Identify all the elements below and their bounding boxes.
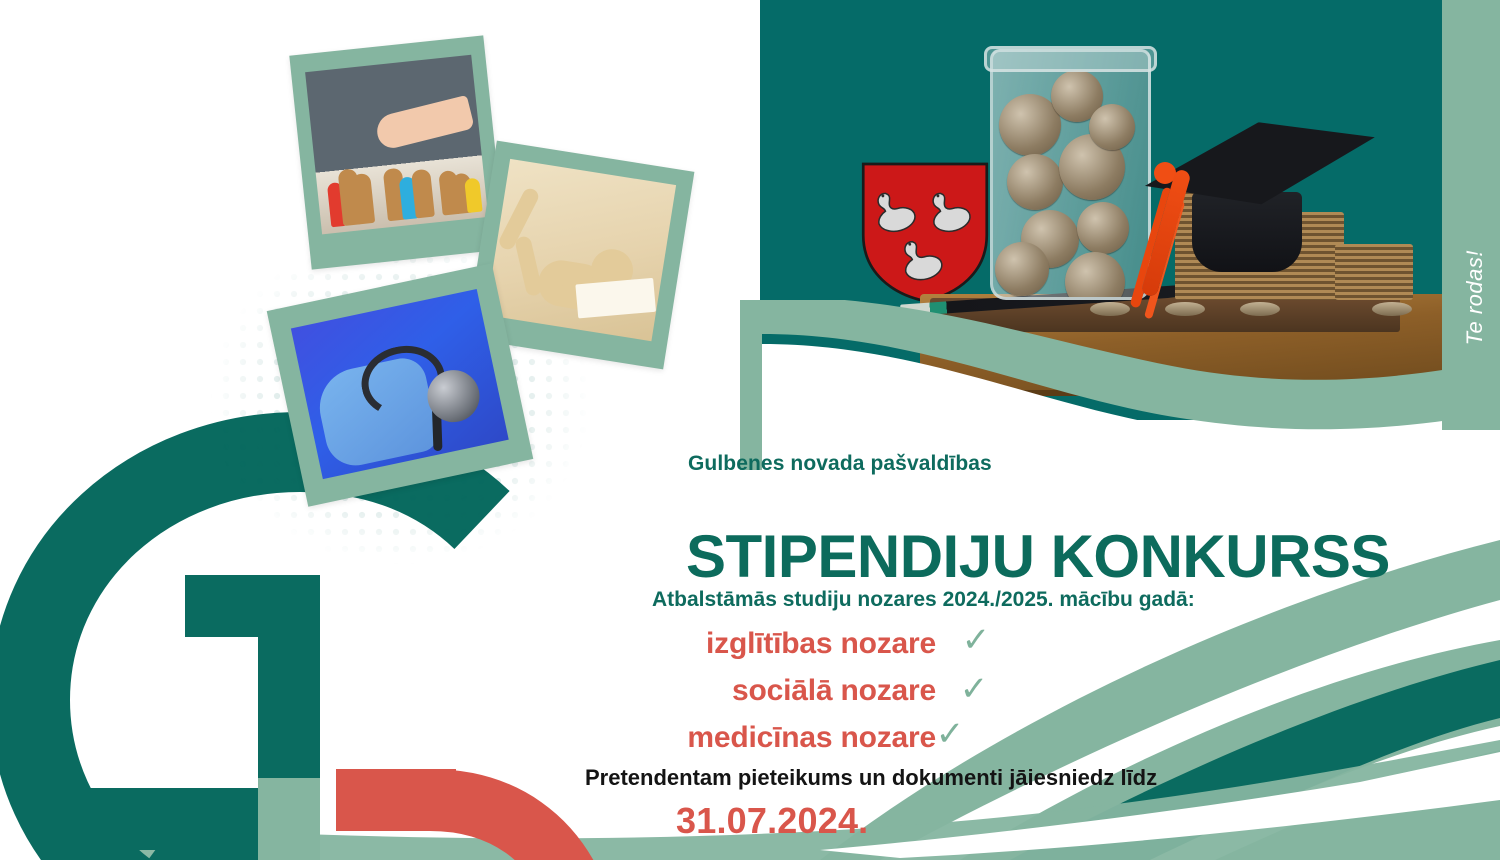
list-item: izglītības nozare ✓ [600, 620, 1020, 667]
sector-list: izglītības nozare ✓ sociālā nozare ✓ med… [600, 620, 1020, 761]
deadline-date: 31.07.2024. [676, 800, 868, 842]
sector-name: izglītības nozare [706, 627, 936, 661]
sector-name: sociālā nozare [732, 674, 936, 708]
check-icon: ✓ [934, 623, 1018, 657]
check-icon: ✓ [908, 717, 992, 751]
poster-canvas: Te rodas! [0, 0, 1500, 860]
list-item: sociālā nozare ✓ [600, 667, 1020, 714]
text-content: Gulbenes novada pašvaldības STIPENDIJU K… [0, 0, 1500, 860]
deadline-label: Pretendentam pieteikums un dokumenti jāi… [585, 765, 1345, 791]
organization-line: Gulbenes novada pašvaldības [688, 452, 1388, 476]
sector-name: medicīnas nozare [687, 721, 936, 755]
check-icon: ✓ [932, 672, 1016, 706]
page-title: STIPENDIJU KONKURSS [686, 527, 1446, 587]
sectors-label: Atbalstāmās studiju nozares 2024./2025. … [652, 588, 1412, 612]
list-item: medicīnas nozare ✓ [600, 714, 1020, 761]
